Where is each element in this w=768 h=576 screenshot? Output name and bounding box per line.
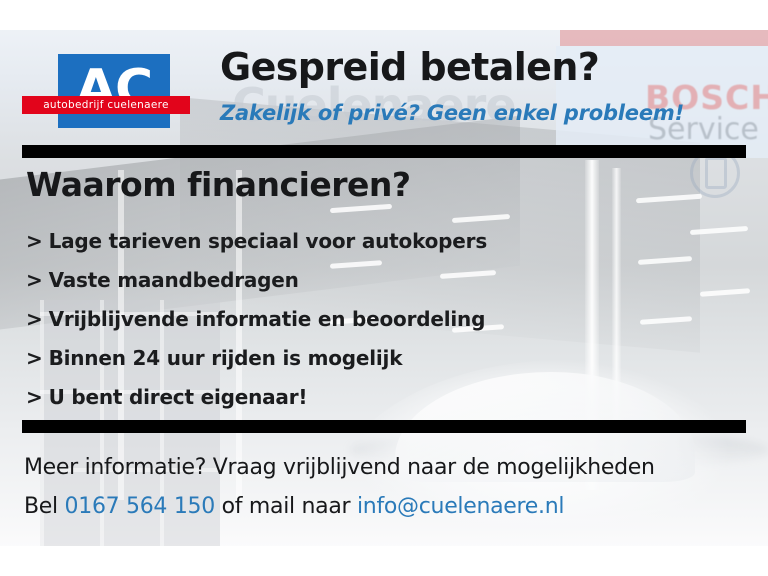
- phone-number-link[interactable]: 0167 564 150: [65, 494, 215, 519]
- email-link[interactable]: info@cuelenaere.nl: [357, 494, 564, 519]
- divider-bottom: [22, 420, 746, 433]
- benefit-list: >Lage tarieven speciaal voor autokopers …: [26, 222, 487, 417]
- list-item: >Vaste maandbedragen: [26, 261, 487, 300]
- list-item-label: Binnen 24 uur rijden is mogelijk: [49, 346, 403, 370]
- list-item: >Lage tarieven speciaal voor autokopers: [26, 222, 487, 261]
- caret-icon: >: [26, 222, 43, 261]
- footer-call-to-action: Meer informatie? Vraag vrijblijvend naar…: [24, 457, 655, 479]
- list-item-label: U bent direct eigenaar!: [49, 385, 308, 409]
- list-item-label: Vaste maandbedragen: [49, 268, 299, 292]
- advertisement-banner: BOSCH Service Cuelenaere AC autobedrijf …: [0, 0, 768, 576]
- list-item: >Vrijblijvende informatie en beoordeling: [26, 300, 487, 339]
- list-item-label: Vrijblijvende informatie en beoordeling: [49, 307, 486, 331]
- logo-initials: AC: [58, 52, 170, 126]
- logo-tagline-banner: autobedrijf cuelenaere: [22, 96, 190, 114]
- section-heading: Waarom financieren?: [26, 168, 411, 201]
- footer-phone-prefix: Bel: [24, 494, 58, 519]
- list-item-label: Lage tarieven speciaal voor autokopers: [49, 229, 487, 253]
- footer-contact-line: Bel 0167 564 150 of mail naar info@cuele…: [24, 496, 564, 518]
- list-item: >U bent direct eigenaar!: [26, 378, 487, 417]
- headline-subtitle: Zakelijk of privé? Geen enkel probleem!: [220, 103, 684, 124]
- footer-mail-connector: of mail naar: [222, 494, 351, 519]
- caret-icon: >: [26, 261, 43, 300]
- caret-icon: >: [26, 378, 43, 417]
- caret-icon: >: [26, 339, 43, 378]
- caret-icon: >: [26, 300, 43, 339]
- divider-top: [22, 145, 746, 158]
- headline-title: Gespreid betalen?: [220, 48, 599, 86]
- list-item: >Binnen 24 uur rijden is mogelijk: [26, 339, 487, 378]
- advert-content: AC autobedrijf cuelenaere Gespreid betal…: [0, 0, 768, 576]
- company-logo[interactable]: AC autobedrijf cuelenaere: [22, 54, 190, 130]
